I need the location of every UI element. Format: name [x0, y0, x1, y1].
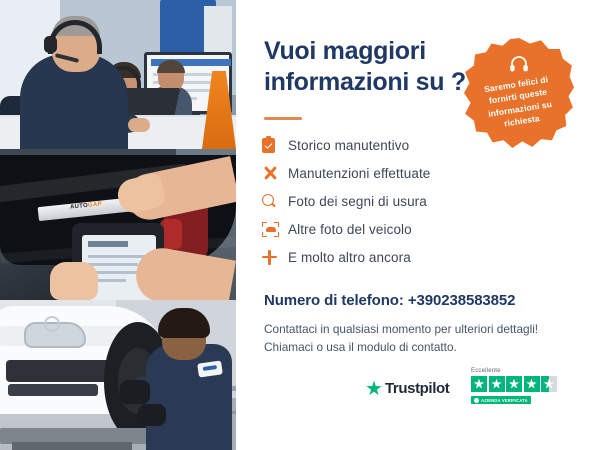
plus-icon [262, 250, 288, 265]
star-filled [506, 376, 522, 392]
photo-mechanic-glove [120, 380, 150, 404]
star-filled [524, 376, 540, 392]
photo-car-emblem [44, 316, 60, 332]
list-item-label: Altre foto del veicolo [288, 222, 412, 237]
headset-icon [509, 55, 529, 78]
workshop-tire-check-photo [0, 300, 236, 450]
photo-tablet-header [88, 241, 128, 247]
photo-lower-grille [8, 384, 98, 396]
contact-subtext-line-2: Chiamaci o usa il modulo di contatto. [264, 338, 584, 356]
photo-column: AUTOGAP [0, 0, 236, 450]
list-item[interactable]: Storico manutentivo [262, 132, 562, 158]
photo-tablet-line [88, 255, 146, 258]
content-panel: Vuoi maggiori informazioni su ? Saremo f… [236, 0, 600, 450]
list-item-label: Foto dei segni di usura [288, 194, 427, 209]
list-item[interactable]: Altre foto del veicolo [262, 216, 562, 242]
phone-number-line[interactable]: Numero di telefono: +390238583852 [264, 292, 515, 309]
wrench-cross-icon [262, 165, 288, 181]
photo-inspector-lower-hand [50, 262, 98, 300]
trustpilot-stars [471, 376, 557, 392]
trustpilot-rating-label: Eccellente [471, 368, 557, 374]
trustpilot-rating: Eccellente [471, 368, 557, 392]
photo-agent-one-earpad [44, 36, 57, 53]
star-filled [471, 376, 487, 392]
photo-agent-one-hand [128, 118, 150, 132]
list-item-label: Manutenzioni effettuate [288, 166, 430, 181]
list-item[interactable]: E molto altro ancora [262, 244, 562, 270]
photo-lift-base [12, 442, 132, 450]
list-item[interactable]: Foto dei segni di usura [262, 188, 562, 214]
document-check-icon [262, 138, 288, 153]
list-item-label: E molto altro ancora [288, 250, 411, 265]
contact-subtext: Contattaci in qualsiasi momento per ulte… [264, 320, 584, 357]
trustpilot-name: Trustpilot [385, 380, 449, 397]
photo-tablet-line [88, 263, 138, 266]
trustpilot-star-icon [366, 381, 382, 397]
trustpilot-logo: Trustpilot [366, 380, 449, 397]
call-center-agents-photo [0, 0, 236, 149]
verified-badge-label: AZIENDA VERIFICATA [481, 398, 528, 403]
title-underline-rule [264, 117, 302, 120]
advertisement-banner: AUTOGAP [0, 0, 600, 450]
vehicle-inspection-photo: AUTOGAP [0, 149, 236, 300]
verified-check-icon [474, 398, 479, 403]
trustpilot-widget[interactable]: Trustpilot Eccellente AZIENDA VERIFICATA [366, 368, 600, 416]
star-half [541, 376, 557, 392]
list-item[interactable]: Manutenzioni effettuate [262, 160, 562, 186]
star-filled [489, 376, 505, 392]
feature-list: Storico manutentivo Manutenzioni effettu… [262, 132, 562, 272]
contact-subtext-line-1: Contattaci in qualsiasi momento per ulte… [264, 320, 584, 338]
magnifier-icon [262, 194, 288, 209]
photo-mechanic-glove [138, 404, 166, 426]
verified-business-badge: AZIENDA VERIFICATA [471, 396, 531, 404]
list-item-label: Storico manutentivo [288, 138, 409, 153]
scan-car-icon [262, 222, 288, 237]
photo-front-grille [6, 360, 114, 382]
page-title: Vuoi maggiori informazioni su ? [264, 36, 474, 97]
